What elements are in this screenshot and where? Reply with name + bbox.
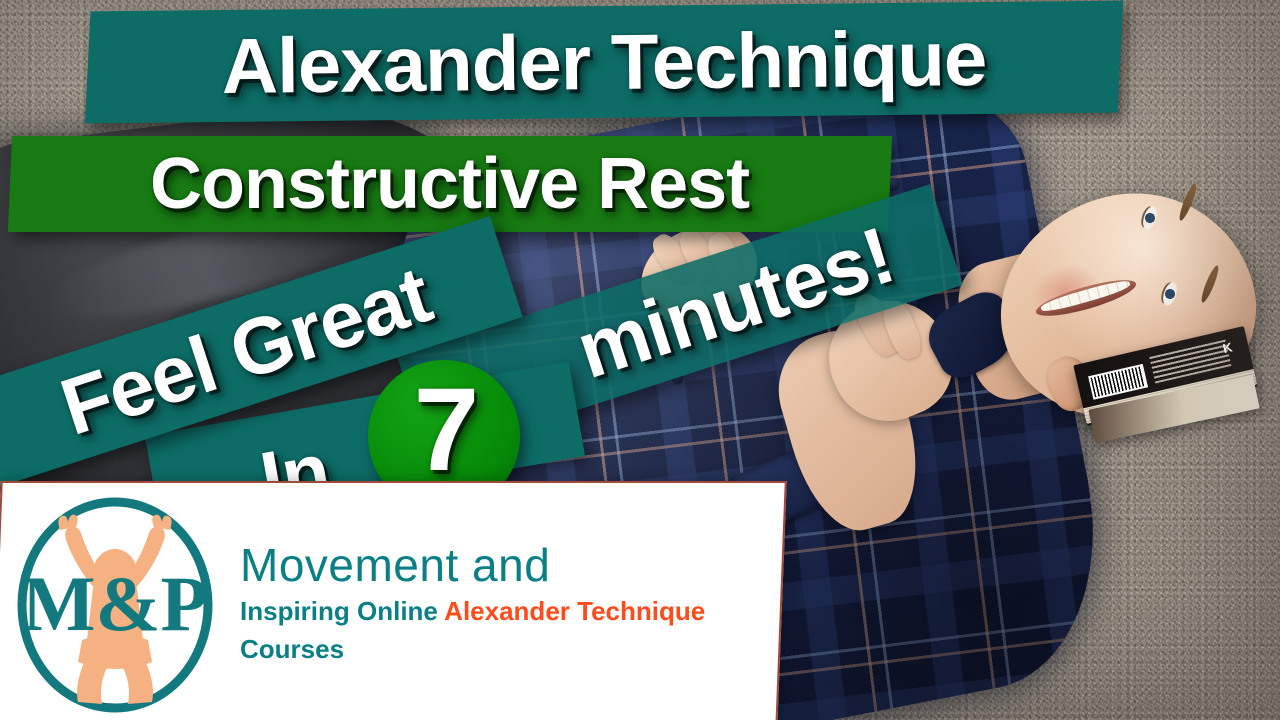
title-banner: Alexander Technique xyxy=(85,1,1123,124)
brand-text-block: Movement and Inspiring Online Alexander … xyxy=(240,541,705,669)
tagline-suffix: Courses xyxy=(240,631,705,669)
brand-logo-panel: M&P Movement and Inspiring Online Alexan… xyxy=(0,481,787,720)
title-text: Alexander Technique xyxy=(221,13,986,112)
subtitle-text: Constructive Rest xyxy=(150,143,749,225)
brand-tagline: Inspiring Online Alexander Technique xyxy=(240,593,705,631)
tagline-prefix: Inspiring Online xyxy=(240,596,438,626)
tagline-highlight: Alexander Technique xyxy=(444,596,705,626)
subtitle-banner: Constructive Rest xyxy=(8,136,892,232)
minutes-number-text: 7 xyxy=(414,371,479,489)
thumbnail-canvas: K Alexander Technique Constructive Rest … xyxy=(0,0,1280,720)
jumping-person-in-circle-icon: M&P xyxy=(12,496,218,714)
svg-text:M&P: M&P xyxy=(22,560,208,647)
brand-name: Movement and xyxy=(240,541,705,589)
